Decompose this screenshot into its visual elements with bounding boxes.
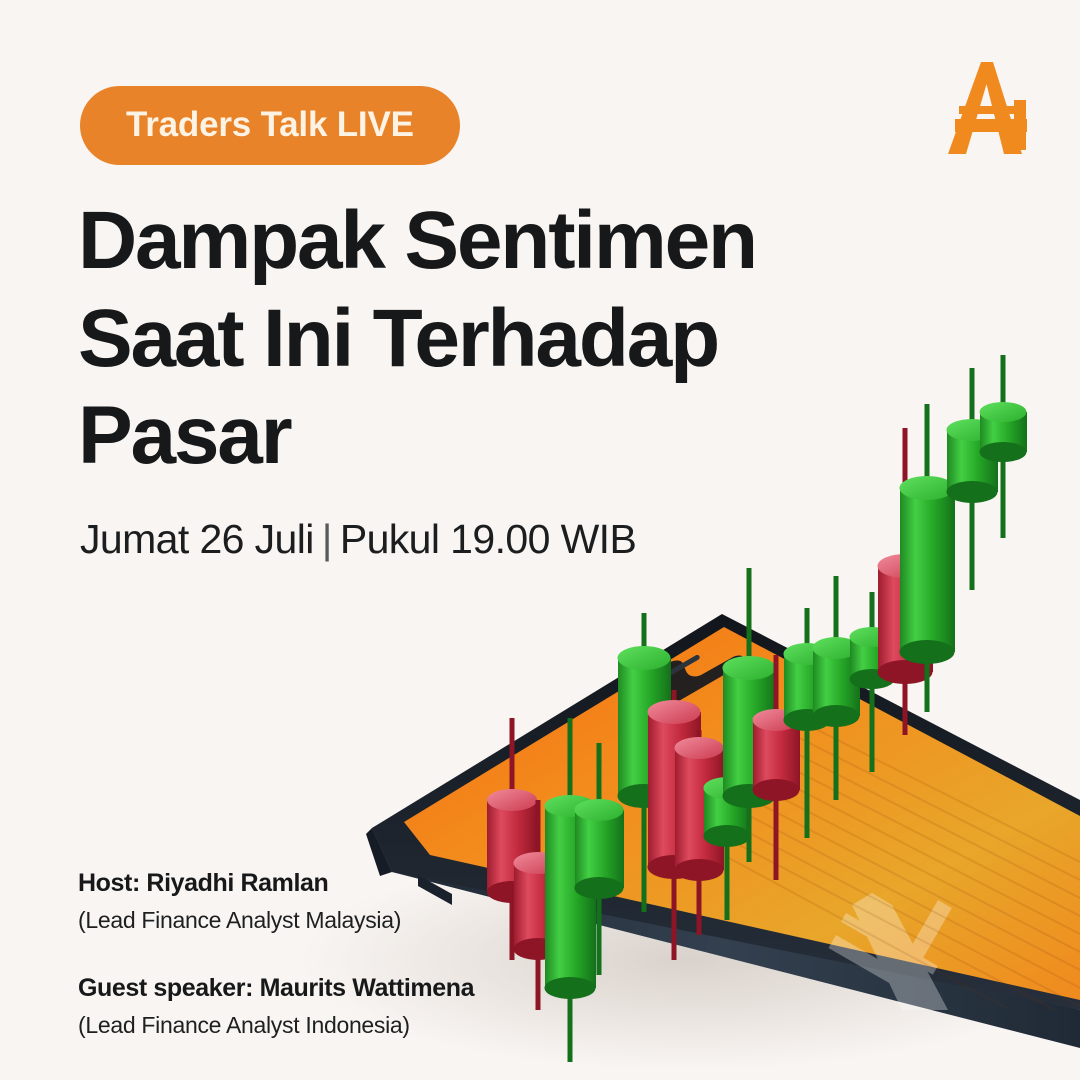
- headline-line-1: Dampak Sentimen: [78, 192, 838, 290]
- live-badge: Traders Talk LIVE: [80, 86, 460, 165]
- host-entry: Host: Riyadhi Ramlan (Lead Finance Analy…: [78, 868, 474, 935]
- page-title: Dampak Sentimen Saat Ini Terhadap Pasar: [78, 192, 838, 485]
- schedule-separator: |: [314, 516, 340, 563]
- headline-line-2: Saat Ini Terhadap: [78, 290, 838, 388]
- speakers-block: Host: Riyadhi Ramlan (Lead Finance Analy…: [78, 868, 474, 1039]
- host-role: (Lead Finance Analyst Malaysia): [78, 907, 474, 935]
- host-name: Host: Riyadhi Ramlan: [78, 868, 474, 898]
- headline-line-3: Pasar: [78, 387, 838, 485]
- schedule-date: Jumat 26 Juli: [80, 516, 314, 562]
- schedule-time: Pukul 19.00 WIB: [340, 516, 636, 562]
- guest-name: Guest speaker: Maurits Wattimena: [78, 973, 474, 1003]
- brand-a-logo-icon: [938, 56, 1038, 160]
- guest-entry: Guest speaker: Maurits Wattimena (Lead F…: [78, 973, 474, 1040]
- promo-poster: Traders Talk LIVE Dampak Sentimen Saat I…: [0, 0, 1080, 1080]
- schedule-line: Jumat 26 Juli|Pukul 19.00 WIB: [80, 516, 636, 563]
- guest-role: (Lead Finance Analyst Indonesia): [78, 1012, 474, 1040]
